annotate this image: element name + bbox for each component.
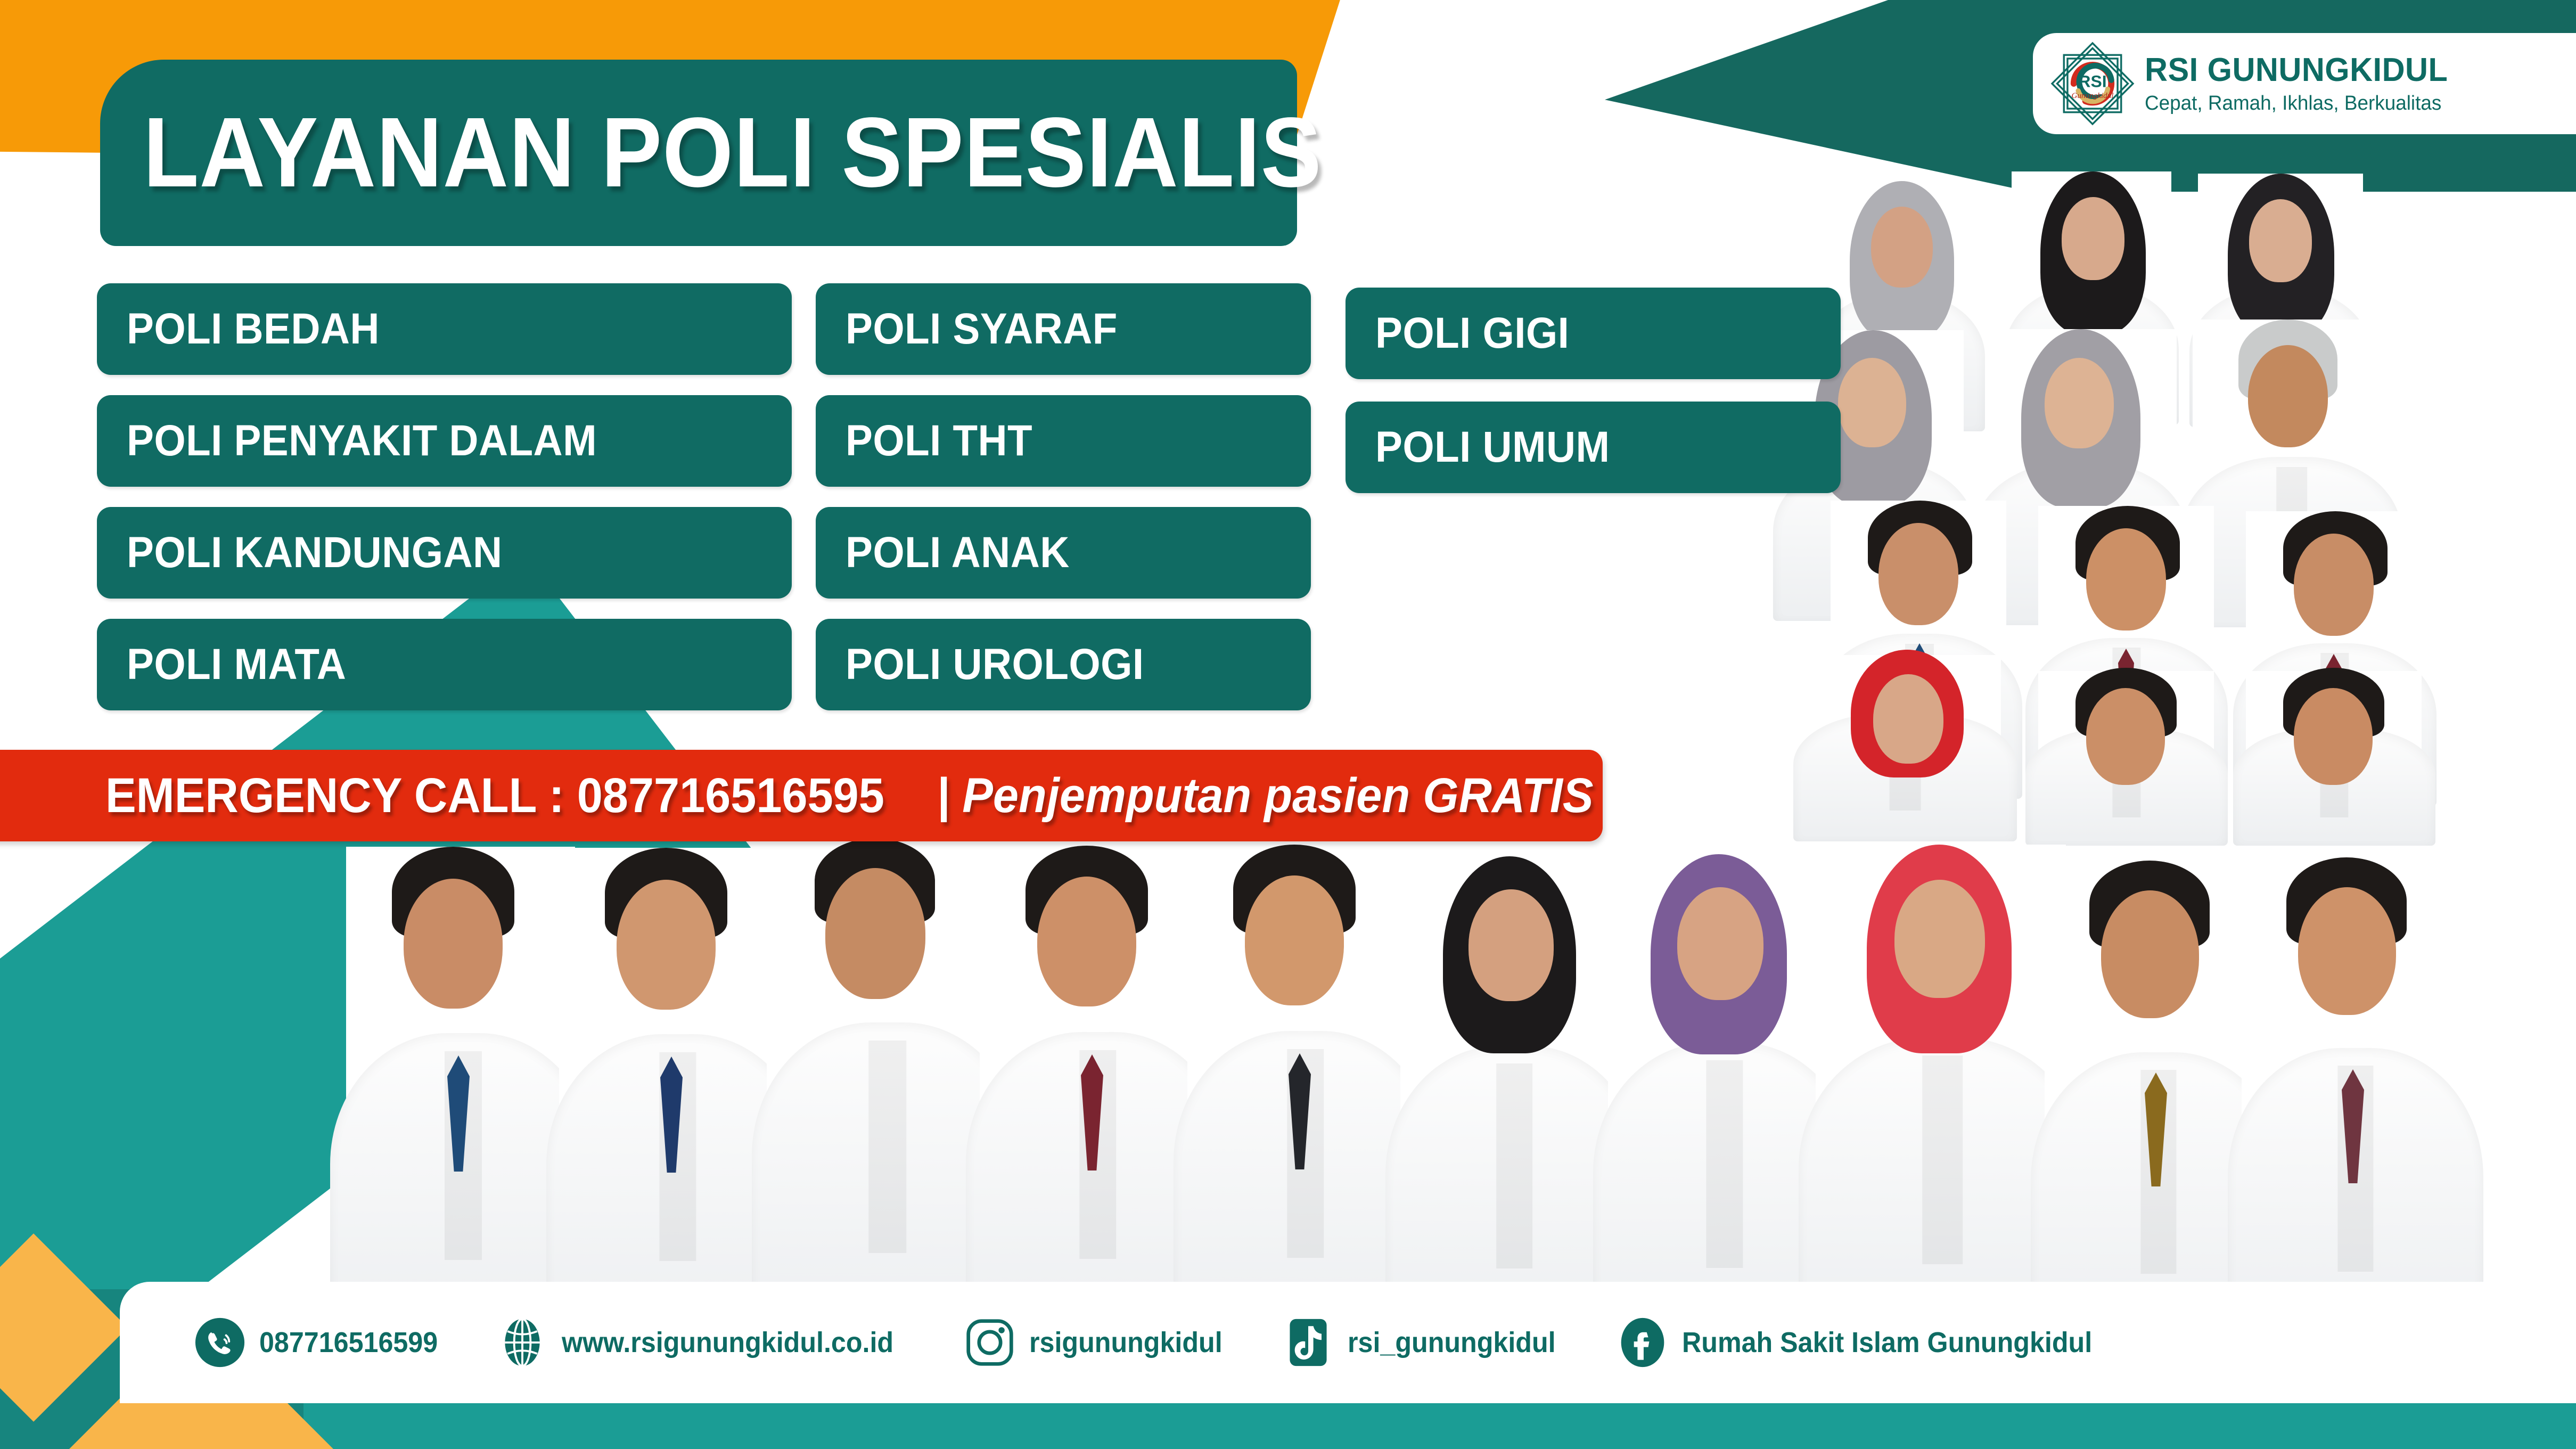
contact-tiktok[interactable]: rsi_gunungkidul: [1283, 1317, 1571, 1368]
service-label: POLI UROLOGI: [846, 640, 1144, 690]
contact-instagram-label: rsigunungkidul: [1029, 1326, 1223, 1359]
service-button-poli-bedah[interactable]: POLI BEDAH: [97, 283, 792, 375]
facebook-icon: [1617, 1317, 1668, 1368]
footer-contact-bar: 087716516599 www.rsigunungkidul.co.id: [120, 1282, 2576, 1403]
service-label: POLI SYARAF: [846, 304, 1118, 354]
instagram-icon: [964, 1317, 1015, 1368]
service-button-poli-kandungan[interactable]: POLI KANDUNGAN: [97, 507, 792, 599]
brand-name: RSI GUNUNGKIDUL: [2145, 54, 2448, 87]
service-label: POLI GIGI: [1375, 308, 1569, 358]
service-button-poli-gigi[interactable]: POLI GIGI: [1346, 288, 1841, 379]
service-label: POLI BEDAH: [127, 304, 380, 354]
contact-phone-label: 087716516599: [259, 1326, 438, 1359]
page-title: LAYANAN POLI SPESIALIS: [100, 103, 1322, 202]
emergency-call-label: EMERGENCY CALL : 087716516595: [105, 768, 884, 824]
service-button-poli-tht[interactable]: POLI THT: [816, 395, 1311, 487]
contact-facebook[interactable]: Rumah Sakit Islam Gunungkidul: [1617, 1317, 2123, 1368]
emergency-call-banner[interactable]: EMERGENCY CALL : 087716516595 | Penjempu…: [0, 750, 1603, 841]
emergency-note-label: | Penjemputan pasien GRATIS: [937, 768, 1594, 824]
contact-instagram[interactable]: rsigunungkidul: [964, 1317, 1237, 1368]
poster-canvas: LAYANAN POLI SPESIALIS POLI BEDAH POLI P…: [0, 0, 2576, 1449]
service-label: POLI THT: [846, 416, 1032, 466]
page-title-banner: LAYANAN POLI SPESIALIS: [100, 60, 1297, 246]
service-label: POLI ANAK: [846, 528, 1070, 578]
service-label: POLI PENYAKIT DALAM: [127, 416, 597, 466]
tiktok-icon: [1283, 1317, 1334, 1368]
service-label: POLI MATA: [127, 640, 346, 690]
service-button-poli-mata[interactable]: POLI MATA: [97, 619, 792, 710]
service-column-1: POLI BEDAH POLI PENYAKIT DALAM POLI KAND…: [97, 283, 792, 731]
rsi-star-logo-icon: RSI Gunungkidul: [2048, 39, 2137, 128]
staff-row-bottom: [346, 815, 2316, 1310]
contact-website-label: www.rsigunungkidul.co.id: [562, 1326, 893, 1359]
service-button-poli-umum[interactable]: POLI UMUM: [1346, 402, 1841, 493]
contact-phone[interactable]: 087716516599: [194, 1317, 451, 1368]
contact-tiktok-label: rsi_gunungkidul: [1348, 1326, 1556, 1359]
phone-icon: [194, 1317, 245, 1368]
brand-logo-card: RSI Gunungkidul RSI GUNUNGKIDUL Cepat, R…: [2033, 33, 2576, 134]
contact-website[interactable]: www.rsigunungkidul.co.id: [497, 1317, 918, 1368]
svg-text:Gunungkidul: Gunungkidul: [2072, 92, 2114, 100]
service-label: POLI UMUM: [1375, 422, 1610, 472]
staff-group-photo-right: [1788, 160, 2576, 809]
brand-tagline: Cepat, Ramah, Ikhlas, Berkualitas: [2145, 93, 2441, 113]
service-button-poli-urologi[interactable]: POLI UROLOGI: [816, 619, 1311, 710]
service-button-poli-penyakit-dalam[interactable]: POLI PENYAKIT DALAM: [97, 395, 792, 487]
service-label: POLI KANDUNGAN: [127, 528, 503, 578]
service-button-poli-syaraf[interactable]: POLI SYARAF: [816, 283, 1311, 375]
globe-icon: [497, 1317, 548, 1368]
service-column-3: POLI GIGI POLI UMUM: [1346, 288, 1841, 515]
service-column-2: POLI SYARAF POLI THT POLI ANAK POLI UROL…: [816, 283, 1311, 731]
service-button-poli-anak[interactable]: POLI ANAK: [816, 507, 1311, 599]
bottom-green-strip: [0, 1403, 2576, 1449]
contact-facebook-label: Rumah Sakit Islam Gunungkidul: [1682, 1326, 2092, 1359]
svg-text:RSI: RSI: [2078, 72, 2106, 91]
